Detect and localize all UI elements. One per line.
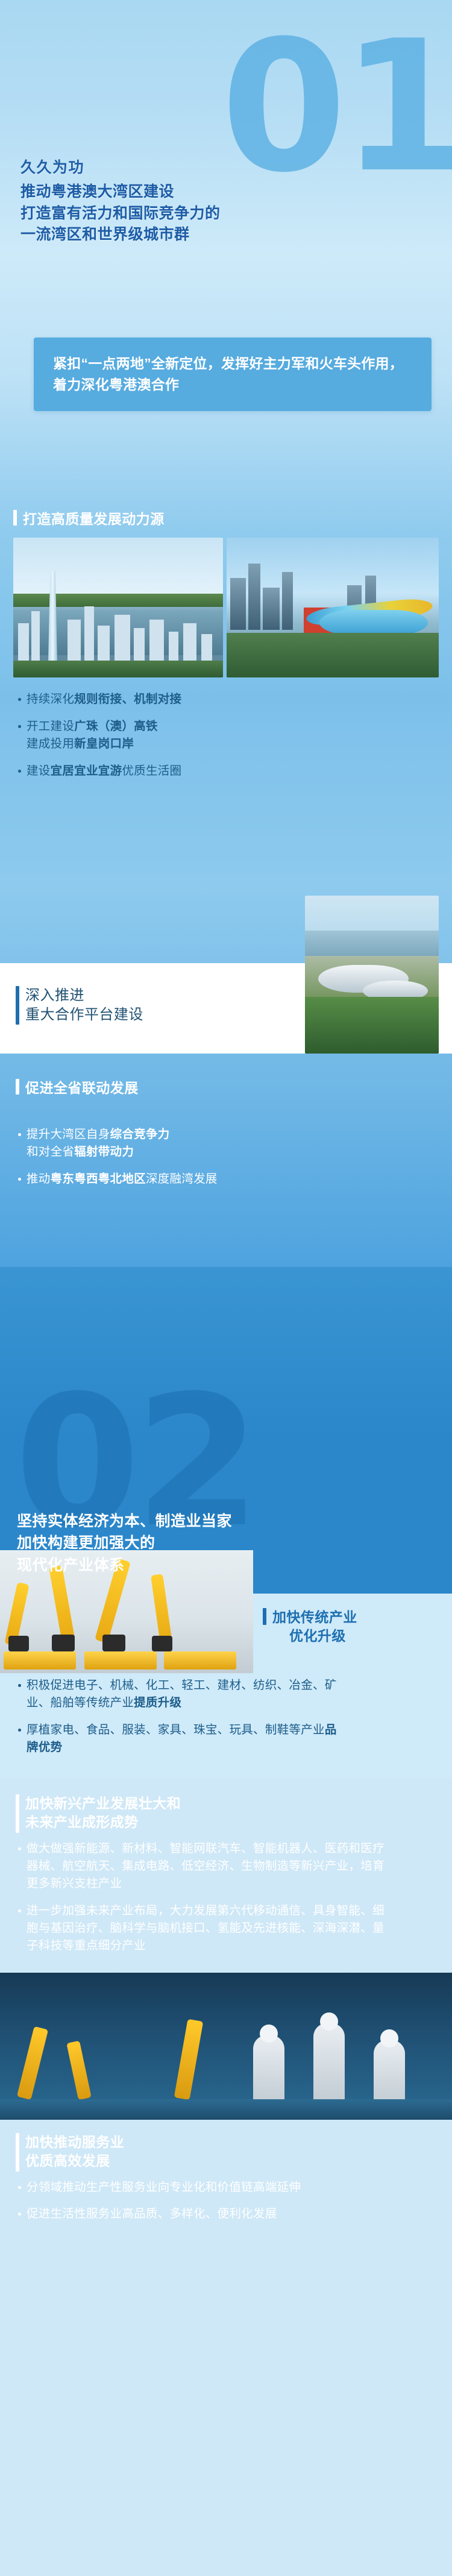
section-01-quote-box: 紧扣“一点两地”全新定位，发挥好主力军和火车头作用，着力深化粤港澳合作 <box>34 338 432 411</box>
heading-bar-icon <box>13 510 17 526</box>
section-01: 01 久久为功 推动粤港澳大湾区建设 打造富有活力和国际竞争力的 一流湾区和世界… <box>0 0 452 1267</box>
section-02-title-line-2: 加快构建更加强大的 <box>17 1532 232 1554</box>
bullet-dot-icon <box>18 1178 21 1181</box>
bullet-dot-icon <box>18 1133 21 1136</box>
subsection-heading-line-1: 加快新兴产业发展壮大和 <box>25 1794 181 1813</box>
list-item-text: 做大做强新能源、新材料、智能网联汽车、智能机器人、医药和医疗器械、航空航天、集成… <box>27 1840 392 1893</box>
bullet-list-traditional-industry: 积极促进电子、机械、化工、轻工、建材、纺织、冶金、矿业、船舶等传统产业提质升级 … <box>18 1677 344 1756</box>
list-item: 进一步加强未来产业布局，大力发展第六代移动通信、具身智能、细胞与基因治疗、脑科学… <box>18 1902 392 1955</box>
section-01-title-block: 久久为功 推动粤港澳大湾区建设 打造富有活力和国际竞争力的 一流湾区和世界级城市… <box>20 156 221 246</box>
subsection-heading-traditional-industry: 加快传统产业 优化升级 <box>263 1608 357 1645</box>
list-item-text: 推动粤东粤西粤北地区深度融湾发展 <box>27 1170 218 1188</box>
section-01-title-line-2: 打造富有活力和国际竞争力的 <box>20 203 221 225</box>
list-item: 做大做强新能源、新材料、智能网联汽车、智能机器人、医药和医疗器械、航空航天、集成… <box>18 1840 392 1893</box>
heading-bar-icon <box>263 1608 266 1625</box>
subsection-heading-emerging-industry: 加快新兴产业发展壮大和 未来产业成形成势 <box>0 1779 452 1836</box>
bullet-dot-icon <box>18 1684 21 1687</box>
bullet-list-wrapper-emerging: 做大做强新能源、新材料、智能网联汽车、智能机器人、医药和医疗器械、航空航天、集成… <box>0 1836 452 1972</box>
heading-bar-icon <box>16 1794 19 1833</box>
photo-shenzhen-skyline <box>227 538 439 677</box>
list-item: 持续深化规则衔接、机制对接 <box>18 691 301 708</box>
heading-bar-icon <box>16 1079 19 1095</box>
list-item-text: 进一步加强未来产业布局，大力发展第六代移动通信、具身智能、细胞与基因治疗、脑科学… <box>27 1902 392 1955</box>
subsection-heading-line-2: 优化升级 <box>272 1627 357 1645</box>
infographic-page: 01 久久为功 推动粤港澳大湾区建设 打造富有活力和国际竞争力的 一流湾区和世界… <box>0 0 452 2576</box>
subsection-heading-text: 打造高质量发展动力源 <box>23 510 165 529</box>
subsection-heading-services: 加快推动服务业 优质高效发展 <box>0 2120 452 2175</box>
list-item: 开工建设广珠（澳）高铁 建成投用新皇岗口岸 <box>18 718 301 753</box>
subsection-heading-line-1: 加快传统产业 <box>272 1608 357 1627</box>
list-item-text: 持续深化规则衔接、机制对接 <box>27 691 181 708</box>
bullet-list-services: 分领域推动生产性服务业向专业化和价值链高端延伸 促进生活性服务业高品质、多样化、… <box>18 2179 404 2223</box>
bullet-dot-icon <box>18 698 21 701</box>
bullet-dot-icon <box>18 1847 21 1850</box>
subsection-heading-text: 促进全省联动发展 <box>25 1079 139 1098</box>
list-item: 积极促进电子、机械、化工、轻工、建材、纺织、冶金、矿业、船舶等传统产业提质升级 <box>18 1677 344 1712</box>
bullet-dot-icon <box>18 1909 21 1912</box>
bullet-list-power-source: 持续深化规则衔接、机制对接 开工建设广珠（澳）高铁 建成投用新皇岗口岸 建设宜居… <box>18 691 301 789</box>
bullet-list-emerging-industry: 做大做强新能源、新材料、智能网联汽车、智能机器人、医药和医疗器械、航空航天、集成… <box>18 1840 392 1954</box>
list-item: 建设宜居宜业宜游优质生活圈 <box>18 762 301 780</box>
photo-humanoid-robots <box>0 1973 452 2120</box>
section-02-title-block: 坚持实体经济为本、制造业当家 加快构建更加强大的 现代化产业体系 <box>17 1510 232 1576</box>
subsection-heading-line-2: 优质高效发展 <box>25 2152 124 2170</box>
heading-bar-icon <box>16 986 19 1025</box>
section-02: 02 坚持实体经济为本、制造业当家 加快构建更加强大的 现代化产业体系 <box>0 1267 452 2253</box>
bullet-dot-icon <box>18 770 21 773</box>
list-item: 分领域推动生产性服务业向专业化和价值链高端延伸 <box>18 2179 404 2196</box>
list-item: 提升大湾区自身综合竞争力 和对全省辐射带动力 <box>18 1126 331 1161</box>
subsection-heading-line-2: 重大合作平台建设 <box>25 1005 143 1025</box>
subsection-heading-line-1: 深入推进 <box>25 986 143 1005</box>
subsection-heading-power-source: 打造高质量发展动力源 <box>13 510 165 529</box>
list-item: 推动粤东粤西粤北地区深度融湾发展 <box>18 1170 331 1188</box>
subsection-heading-line-1: 加快推动服务业 <box>25 2133 124 2152</box>
bullet-list-wrapper-services: 分领域推动生产性服务业向专业化和价值链高端延伸 促进生活性服务业高品质、多样化、… <box>0 2175 452 2254</box>
list-item-text: 提升大湾区自身综合竞争力 和对全省辐射带动力 <box>27 1126 170 1161</box>
list-item-text: 建设宜居宜业宜游优质生活圈 <box>27 762 181 780</box>
subsection-heading-province-linkage: 促进全省联动发展 <box>16 1079 139 1098</box>
section-01-quote-text: 紧扣“一点两地”全新定位，发挥好主力军和火车头作用，着力深化粤港澳合作 <box>53 353 416 395</box>
section-01-title-line-3: 一流湾区和世界级城市群 <box>20 224 221 246</box>
bullet-list-wrapper-traditional: 积极促进电子、机械、化工、轻工、建材、纺织、冶金、矿业、船舶等传统产业提质升级 … <box>0 1673 452 1779</box>
heading-band <box>253 1550 452 1594</box>
subsection-heading-line-2: 未来产业成形成势 <box>25 1813 181 1832</box>
list-item-text: 开工建设广珠（澳）高铁 建成投用新皇岗口岸 <box>27 718 158 753</box>
list-item-text: 厚植家电、食品、服装、家具、珠宝、玩具、制鞋等产业品牌优势 <box>27 1721 344 1756</box>
bullet-dot-icon <box>18 1729 21 1732</box>
subsection-heading-platform: 深入推进 重大合作平台建设 <box>16 986 143 1025</box>
list-item-text: 积极促进电子、机械、化工、轻工、建材、纺织、冶金、矿业、船舶等传统产业提质升级 <box>27 1677 344 1712</box>
section-02-header: 02 坚持实体经济为本、制造业当家 加快构建更加强大的 现代化产业体系 <box>0 1267 452 1550</box>
list-item: 厚植家电、食品、服装、家具、珠宝、玩具、制鞋等产业品牌优势 <box>18 1721 344 1756</box>
section-01-title-small: 久久为功 <box>20 156 221 177</box>
bullet-list-province-linkage: 提升大湾区自身综合竞争力 和对全省辐射带动力 推动粤东粤西粤北地区深度融湾发展 <box>18 1126 331 1198</box>
heading-bar-icon <box>16 2133 19 2172</box>
section-02-title-line-3: 现代化产业体系 <box>17 1554 232 1576</box>
list-item: 促进生活性服务业高品质、多样化、便利化发展 <box>18 2205 404 2223</box>
section-01-number: 01 <box>221 17 452 198</box>
list-item-text: 促进生活性服务业高品质、多样化、便利化发展 <box>27 2205 277 2223</box>
photo-strip-cities <box>13 538 439 677</box>
bullet-dot-icon <box>18 2213 21 2216</box>
photo-bay-stadium <box>305 896 439 1054</box>
photo-canton-tower <box>13 538 223 677</box>
bullet-dot-icon <box>18 2186 21 2189</box>
bullet-dot-icon <box>18 725 21 728</box>
list-item-text: 分领域推动生产性服务业向专业化和价值链高端延伸 <box>27 2179 301 2196</box>
section-02-title-line-1: 坚持实体经济为本、制造业当家 <box>17 1510 232 1532</box>
section-01-title-line-1: 推动粤港澳大湾区建设 <box>20 181 221 203</box>
